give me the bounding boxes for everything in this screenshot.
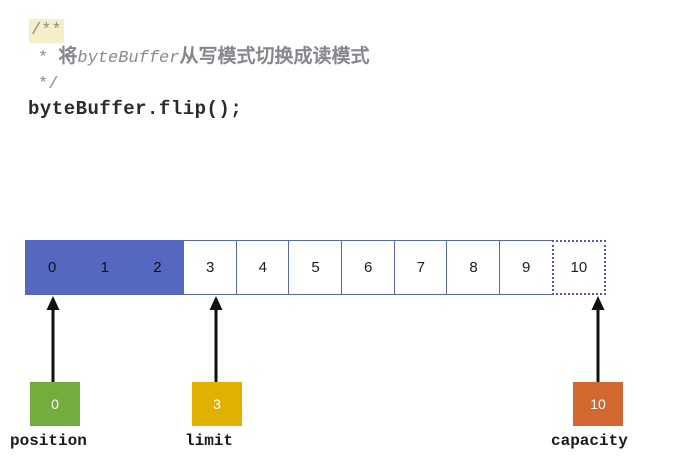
- buffer-cell-4: 4: [236, 240, 290, 295]
- comment-close-token: */: [38, 76, 58, 93]
- code-statement: byteBuffer.flip();: [28, 100, 242, 119]
- limit-label: limit: [185, 432, 233, 450]
- comment-open-token: /**: [29, 19, 64, 43]
- buffer-cell-2: 2: [130, 240, 184, 295]
- buffer-cell-7: 7: [394, 240, 448, 295]
- limit-arrow: [205, 296, 227, 384]
- buffer-cell-10: 10: [552, 240, 606, 295]
- capacity-arrow: [587, 296, 609, 384]
- buffer-cell-8: 8: [446, 240, 500, 295]
- comment-asterisk: *: [38, 49, 58, 68]
- comment-identifier: byteBuffer: [77, 49, 179, 68]
- capacity-label: capacity: [551, 432, 628, 450]
- byte-buffer-cells: 012345678910: [25, 240, 622, 295]
- buffer-cell-5: 5: [288, 240, 342, 295]
- buffer-cell-1: 1: [78, 240, 132, 295]
- buffer-cell-3: 3: [183, 240, 237, 295]
- comment-text-line: * 将byteBuffer从写模式切换成读模式: [38, 47, 369, 67]
- code-snippet: /** * 将byteBuffer从写模式切换成读模式 */ byteBuffe…: [0, 0, 681, 140]
- comment-cjk-lead: 将: [58, 46, 77, 67]
- buffer-cell-9: 9: [499, 240, 553, 295]
- limit-value-box: 3: [192, 382, 242, 426]
- comment-cjk-tail: 从写模式切换成读模式: [179, 46, 369, 67]
- position-arrow: [42, 296, 64, 384]
- buffer-cell-6: 6: [341, 240, 395, 295]
- position-label: position: [10, 432, 87, 450]
- buffer-cell-0: 0: [25, 240, 79, 295]
- position-value-box: 0: [30, 382, 80, 426]
- capacity-value-box: 10: [573, 382, 623, 426]
